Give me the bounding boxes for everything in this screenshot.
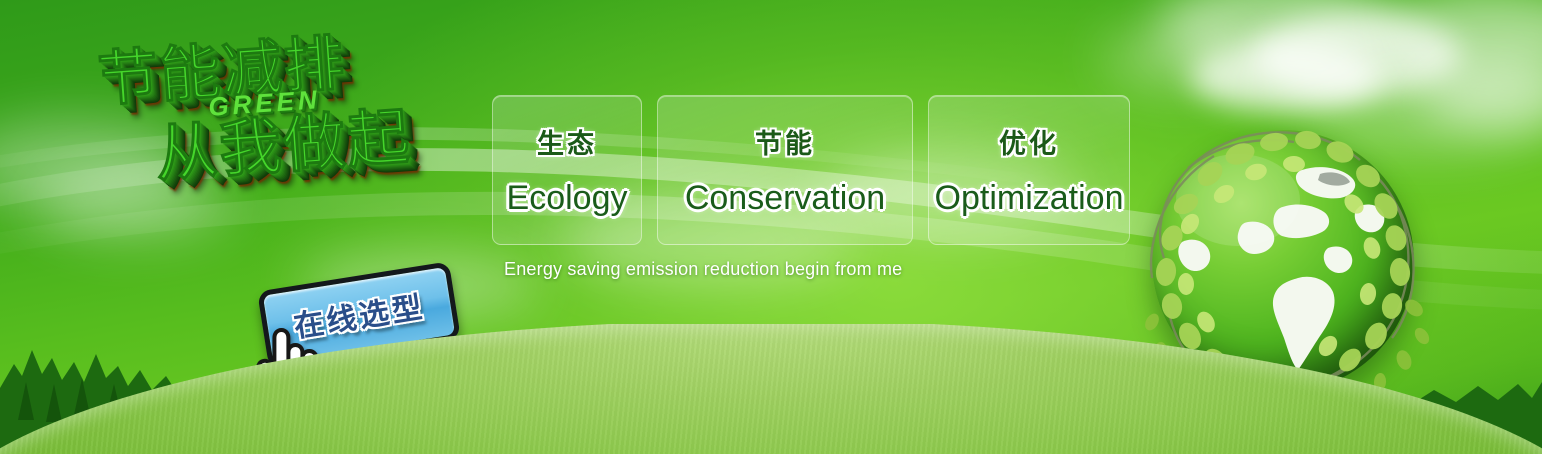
- feature-card-group: 生态 Ecology 节能 Conservation 优化 Optimizati…: [492, 95, 1130, 245]
- grass-hill: [0, 324, 1542, 454]
- ground-layer: [0, 324, 1542, 454]
- hero-tagline: Energy saving emission reduction begin f…: [504, 259, 902, 280]
- cloud-shape: [1190, 42, 1380, 112]
- feature-card-optimization[interactable]: 优化 Optimization: [928, 95, 1130, 245]
- cloud-shape: [1104, 26, 1254, 90]
- feature-card-label-cn: 生态: [537, 122, 597, 161]
- cloud-shape: [1160, 0, 1400, 74]
- feature-card-ecology[interactable]: 生态 Ecology: [492, 95, 642, 245]
- feature-card-label-cn: 优化: [999, 122, 1059, 161]
- cloud-shape: [1380, 0, 1542, 80]
- feature-card-label-cn: 节能: [755, 122, 815, 161]
- hero-headline: 节能减排 GREEN 从我做起: [96, 23, 492, 289]
- feature-card-label-en: Optimization: [935, 179, 1124, 218]
- headline-line-2: 从我做起: [153, 100, 485, 189]
- hero-banner: 节能减排 GREEN 从我做起 在线选型 生态 Ecology 节能 Conse…: [0, 0, 1542, 454]
- feature-card-label-en: Conservation: [685, 179, 885, 218]
- feature-card-conservation[interactable]: 节能 Conservation: [657, 95, 913, 245]
- feature-card-label-en: Ecology: [507, 179, 628, 218]
- cloud-shape: [1252, 14, 1462, 98]
